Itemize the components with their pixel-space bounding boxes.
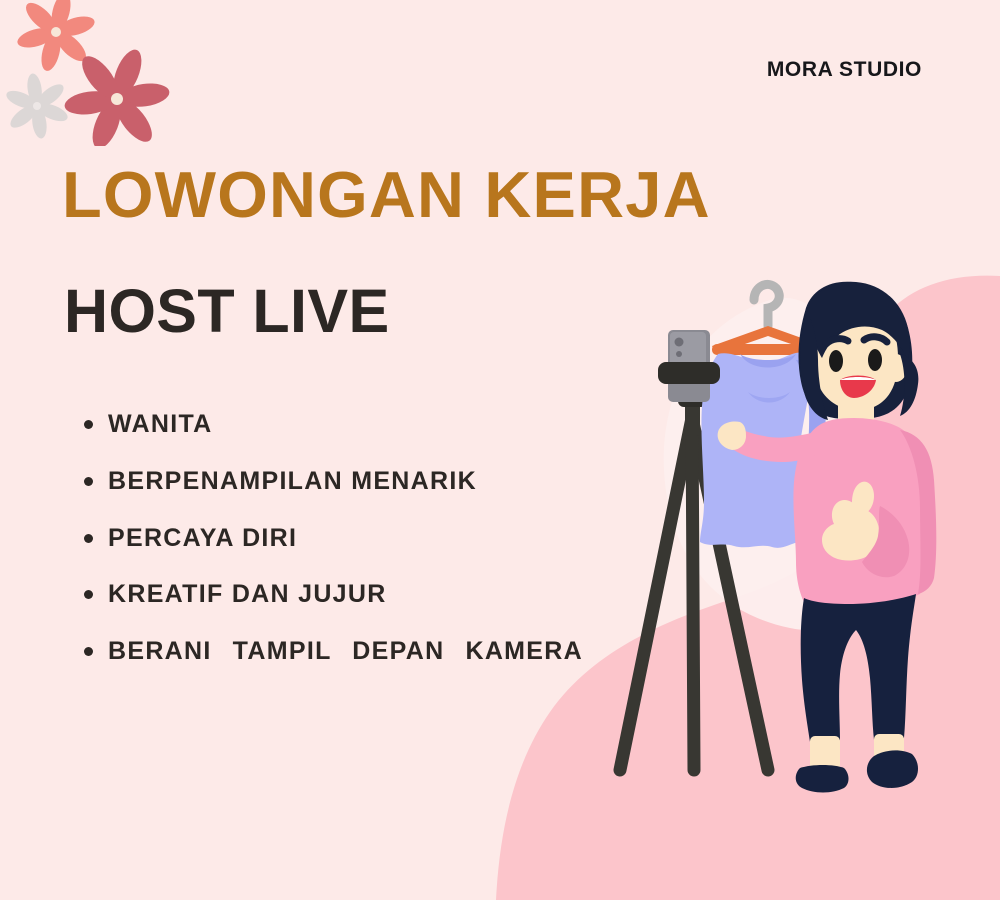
flower-rose-center xyxy=(111,93,123,105)
requirements-list: WANITA BERPENAMPILAN MENARIK PERCAYA DIR… xyxy=(66,408,586,703)
live-host-illustration xyxy=(600,250,1000,820)
list-item: BERPENAMPILAN MENARIK xyxy=(66,465,586,499)
requirement-text: KREATIF DAN JUJUR xyxy=(108,580,387,608)
bullet-dot-icon xyxy=(84,477,93,486)
flower-cluster xyxy=(0,0,190,146)
bullet-dot-icon xyxy=(84,647,93,656)
eye-right xyxy=(868,349,882,371)
hanger-hook-icon xyxy=(754,284,779,326)
phone-camera-secondary-icon xyxy=(676,351,682,357)
bullet-dot-icon xyxy=(84,420,93,429)
brand-name: MORA STUDIO xyxy=(767,58,922,82)
list-item: KREATIF DAN JUJUR xyxy=(66,578,586,612)
list-item: WANITA xyxy=(66,408,586,442)
page-title: LOWONGAN KERJA xyxy=(62,162,711,227)
poster-canvas: MORA STUDIO LOWONGAN KERJA HOST LIVE WAN… xyxy=(0,0,1000,900)
phone-holder-icon xyxy=(658,362,720,384)
requirement-text: BERANI TAMPIL DEPAN KAMERA xyxy=(108,635,583,703)
bullet-dot-icon xyxy=(84,534,93,543)
flower-gray-center xyxy=(33,102,41,110)
phone-camera-icon xyxy=(675,338,684,347)
ankle-left xyxy=(810,736,840,770)
bullet-dot-icon xyxy=(84,590,93,599)
shoe-right-icon xyxy=(867,750,918,788)
requirement-text: PERCAYA DIRI xyxy=(108,524,297,552)
requirement-text: WANITA xyxy=(108,410,213,438)
job-position-title: HOST LIVE xyxy=(64,281,390,342)
list-item: PERCAYA DIRI xyxy=(66,522,586,556)
pants xyxy=(801,594,916,744)
shoe-left-icon xyxy=(796,765,849,793)
requirement-text: BERPENAMPILAN MENARIK xyxy=(108,467,477,495)
flower-coral-center xyxy=(51,27,61,37)
list-item: BERANI TAMPIL DEPAN KAMERA xyxy=(66,635,586,703)
eye-left xyxy=(829,350,843,372)
